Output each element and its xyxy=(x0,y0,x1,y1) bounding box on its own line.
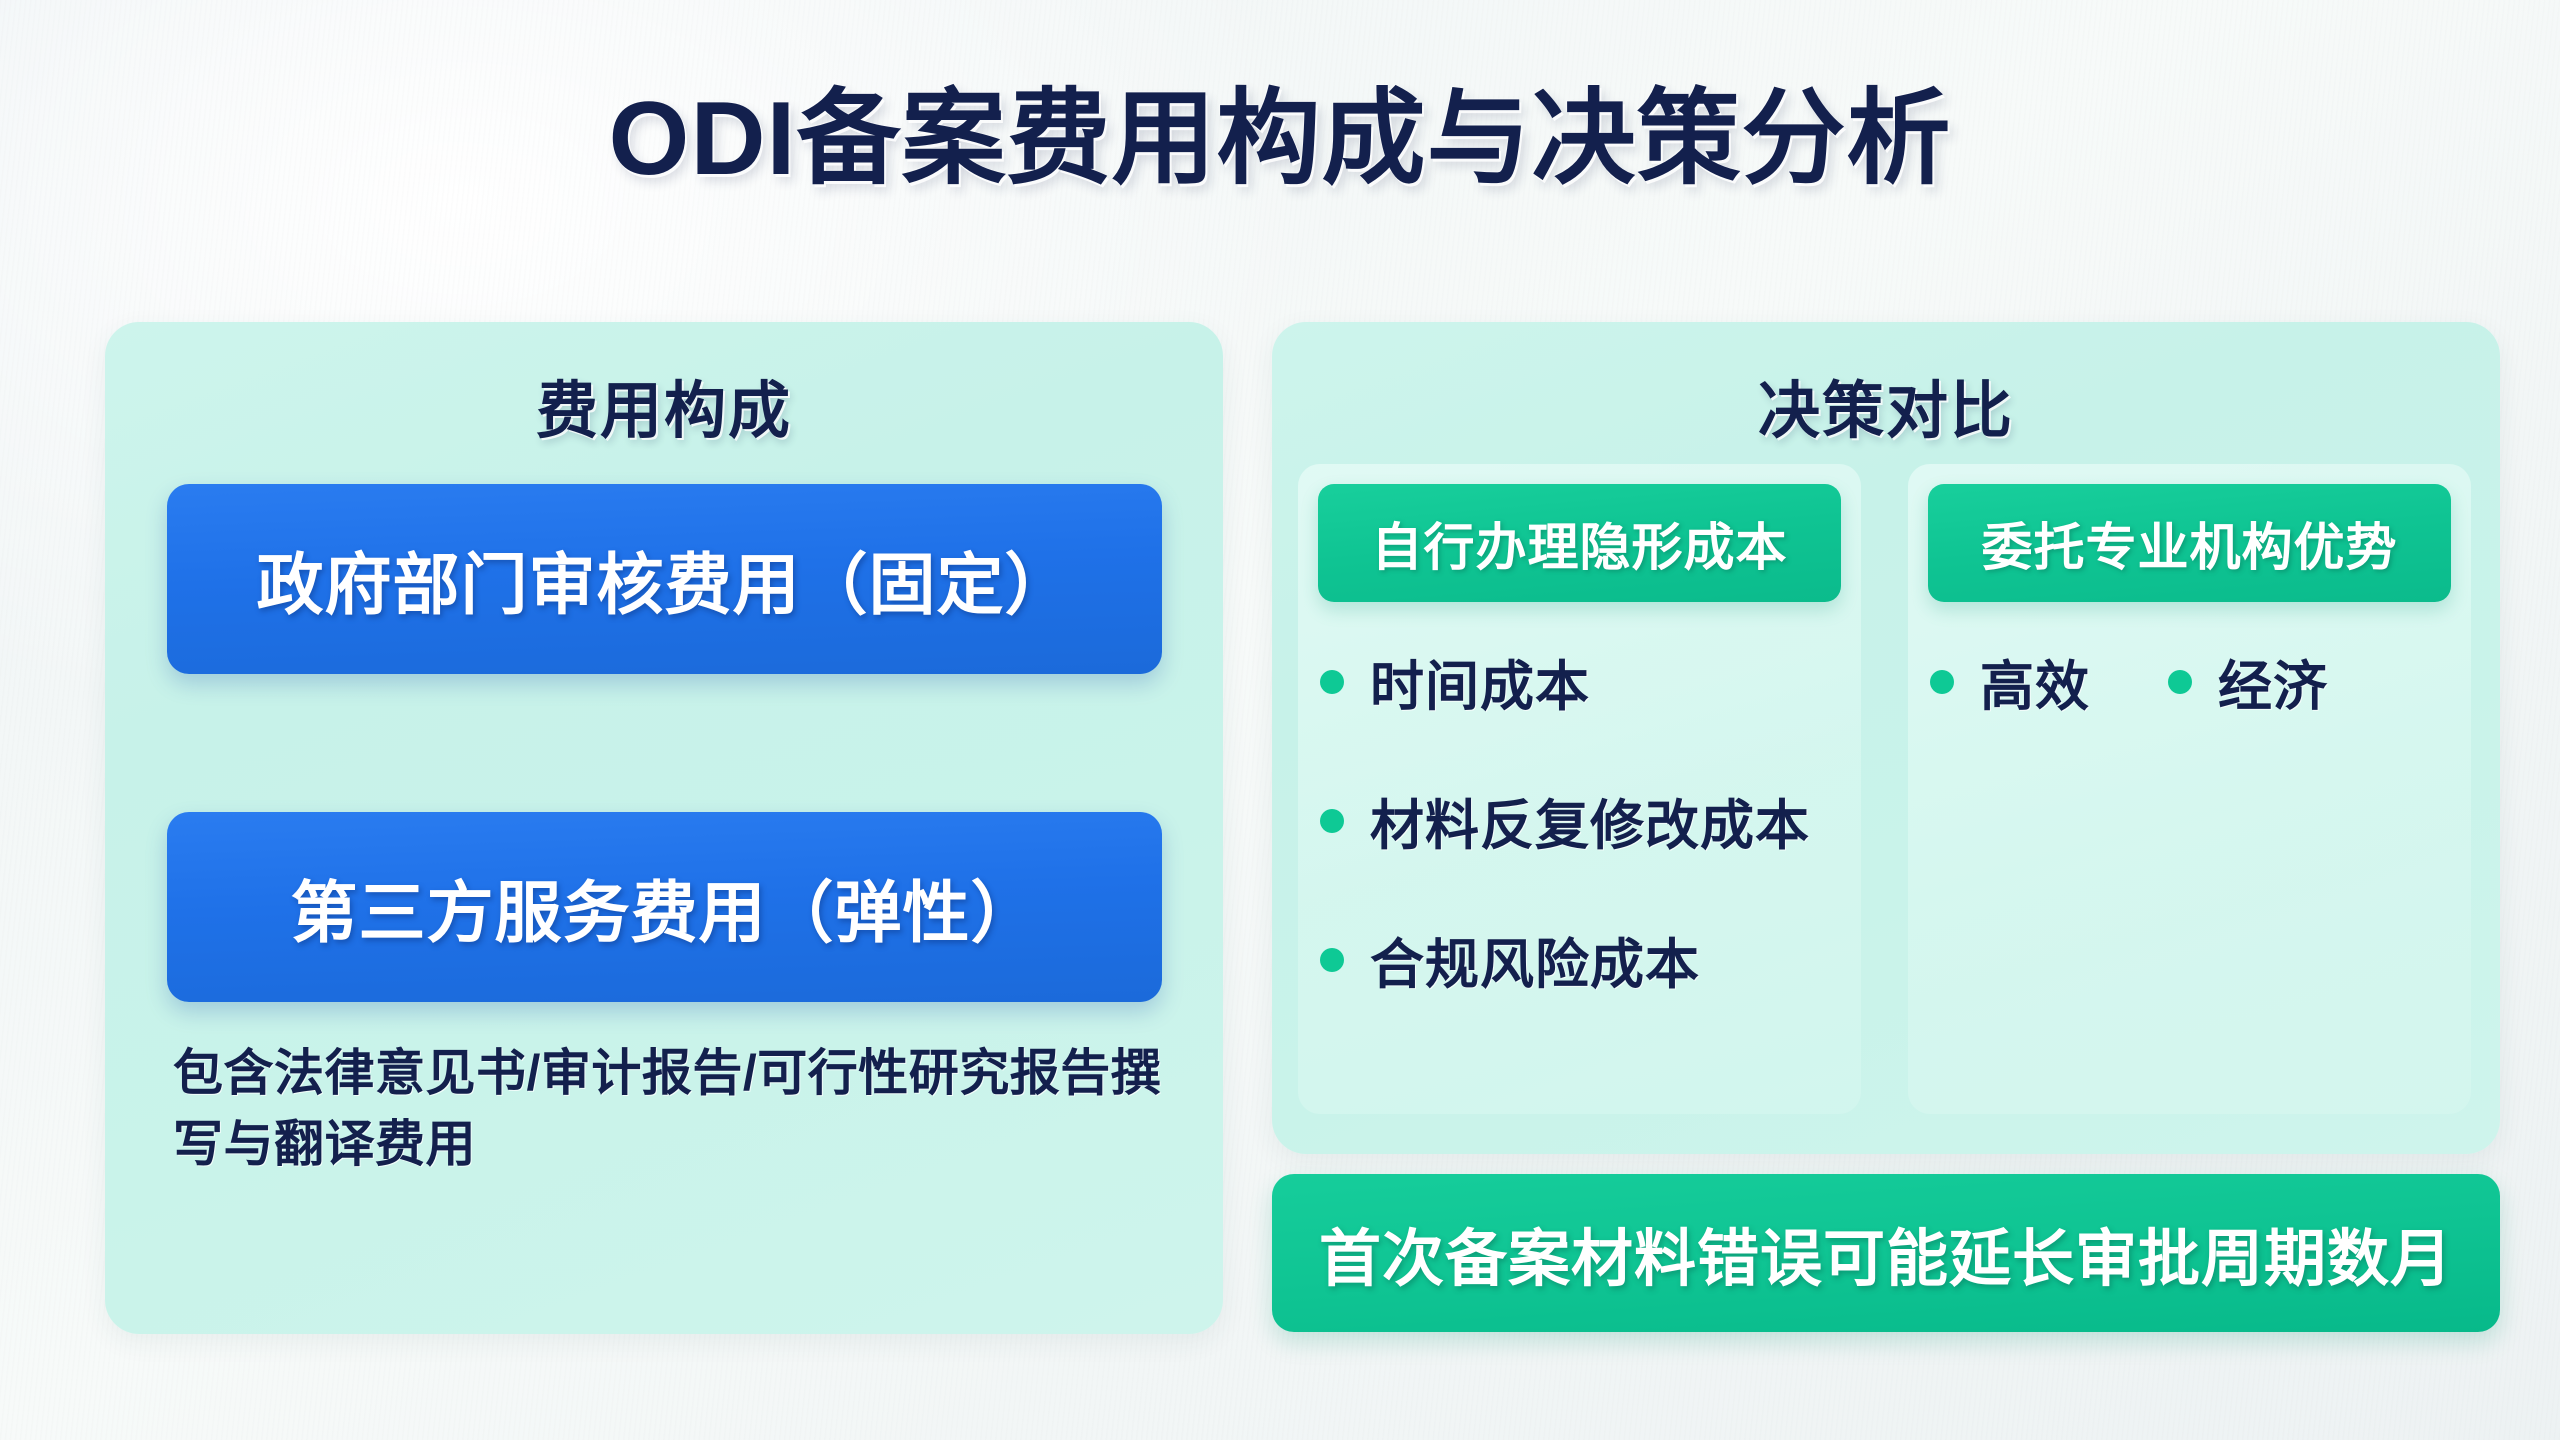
bullet-dot-icon xyxy=(1930,670,1954,694)
cost-composition-panel: 费用构成 政府部门审核费用（固定） 第三方服务费用（弹性） 包含法律意见书/审计… xyxy=(105,322,1223,1334)
list-item: 经济 xyxy=(2168,642,2328,721)
list-item-label: 时间成本 xyxy=(1370,642,1590,721)
decision-comparison-panel: 决策对比 自行办理隐形成本 时间成本 材料反复修改成本 合规风险成本 xyxy=(1272,322,2500,1154)
card-title-badge: 自行办理隐形成本 xyxy=(1318,484,1841,602)
list-item-label: 高效 xyxy=(1980,642,2090,721)
cost-composition-note: 包含法律意见书/审计报告/可行性研究报告撰写与翻译费用 xyxy=(173,1038,1163,1180)
warning-banner-text: 首次备案材料错误可能延长审批周期数月 xyxy=(1319,1208,2453,1298)
list-item: 材料反复修改成本 xyxy=(1320,781,1847,860)
slide-stage: ODI备案费用构成与决策分析 费用构成 政府部门审核费用（固定） 第三方服务费用… xyxy=(0,0,2560,1440)
bullet-dot-icon xyxy=(1320,948,1344,972)
card-title: 委托专业机构优势 xyxy=(1981,506,2397,580)
list-item: 合规风险成本 xyxy=(1320,920,1847,999)
card-title-badge: 委托专业机构优势 xyxy=(1928,484,2451,602)
cost-item-label: 政府部门审核费用（固定） xyxy=(257,531,1073,628)
cost-item-government-review[interactable]: 政府部门审核费用（固定） xyxy=(167,484,1162,674)
left-panel-heading: 费用构成 xyxy=(105,360,1223,450)
bullet-dot-icon xyxy=(1320,809,1344,833)
bullet-dot-icon xyxy=(1320,670,1344,694)
card-professional-agency-advantages: 委托专业机构优势 高效 经济 xyxy=(1908,464,2471,1114)
list-item-label: 合规风险成本 xyxy=(1370,920,1700,999)
list-item-label: 材料反复修改成本 xyxy=(1370,781,1810,860)
bullet-dot-icon xyxy=(2168,670,2192,694)
self-handling-bullet-list: 时间成本 材料反复修改成本 合规风险成本 xyxy=(1320,642,1847,1059)
list-item: 时间成本 xyxy=(1320,642,1847,721)
warning-banner: 首次备案材料错误可能延长审批周期数月 xyxy=(1272,1174,2500,1332)
cost-item-label: 第三方服务费用（弹性） xyxy=(291,859,1039,956)
page-title: ODI备案费用构成与决策分析 xyxy=(0,84,2560,194)
card-title: 自行办理隐形成本 xyxy=(1371,506,1787,580)
card-self-handling-hidden-costs: 自行办理隐形成本 时间成本 材料反复修改成本 合规风险成本 xyxy=(1298,464,1861,1114)
agency-advantages-bullet-list: 高效 经济 xyxy=(1930,642,2457,721)
right-panel-heading: 决策对比 xyxy=(1272,360,2500,450)
list-item: 高效 xyxy=(1930,642,2090,721)
cost-item-third-party-service[interactable]: 第三方服务费用（弹性） xyxy=(167,812,1162,1002)
list-item-label: 经济 xyxy=(2218,642,2328,721)
